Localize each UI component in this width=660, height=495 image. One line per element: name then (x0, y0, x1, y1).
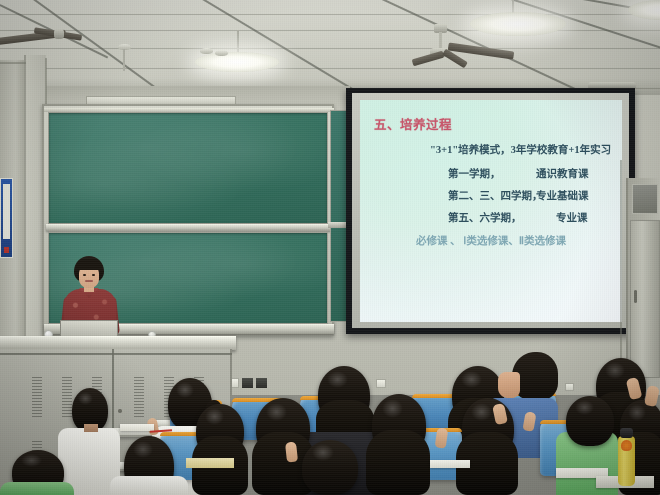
front-counter-top (0, 336, 236, 350)
cabinet-vent (62, 377, 72, 417)
ceiling-fan-left (0, 22, 104, 52)
slide-line-semester-56: 第五、六学期， (448, 210, 522, 225)
cabinet-vent (134, 377, 144, 417)
cabinet-vent (32, 377, 42, 417)
clapping-hand (644, 385, 660, 407)
notebook (186, 458, 234, 468)
uplight (215, 50, 228, 56)
wall-outlet (376, 379, 386, 388)
teacher-eye (83, 274, 86, 276)
fluorescent-lamp (195, 52, 279, 72)
wall-outlet (256, 378, 267, 388)
wall-poster (0, 178, 13, 258)
notebook (120, 424, 154, 431)
student-face-profile (498, 372, 520, 398)
chalkboard-rail (46, 224, 332, 231)
uplight (200, 48, 213, 54)
notebook (430, 460, 470, 468)
slide-line-electives: 必修课 、 Ⅰ类选修课、Ⅱ类选修课 (416, 233, 566, 248)
student-torso (0, 482, 74, 495)
projection-screen: 五、培养过程 "3+1"培养模式，3年学校教育+1年实习 第一学期， 通识教育课… (360, 100, 622, 322)
slide-line-semester-1: 第一学期， (448, 166, 501, 181)
slide-line-model: "3+1"培养模式，3年学校教育+1年实习 (430, 142, 611, 157)
chalkboard-panel-top (48, 112, 328, 224)
student-head (566, 396, 614, 446)
cabinet-lock[interactable] (118, 409, 122, 413)
wall-outlet (242, 378, 253, 388)
slide-course-foundation: 专业基础课 (536, 188, 589, 203)
student-torso (110, 476, 188, 495)
bottle-label (621, 440, 632, 451)
slide-course-general: 通识教育课 (536, 166, 589, 181)
slide-line-semester-234: 第二、三、四学期， (448, 188, 543, 203)
bottle-cap[interactable] (620, 428, 633, 438)
teacher-hair-fringe (76, 259, 102, 270)
fluorescent-lamp (470, 12, 566, 36)
clapping-hand (285, 441, 298, 462)
slide-title: 五、培养过程 (374, 114, 452, 133)
teacher-eye (92, 274, 95, 276)
presentation-slide: 五、培养过程 "3+1"培养模式，3年学校教育+1年实习 第一学期， 通识教育课… (360, 100, 622, 322)
wall-outlet (565, 383, 574, 391)
student-neck (84, 424, 98, 432)
student-head (302, 440, 358, 495)
slide-course-major: 专业课 (556, 210, 588, 225)
teacher-mouth (85, 280, 93, 282)
classroom-photo: 五、培养过程 "3+1"培养模式，3年学校教育+1年实习 第一学期， 通识教育课… (0, 0, 660, 495)
door-handle[interactable] (634, 290, 637, 303)
student-hair (366, 430, 430, 495)
door-transom-window (632, 184, 658, 214)
